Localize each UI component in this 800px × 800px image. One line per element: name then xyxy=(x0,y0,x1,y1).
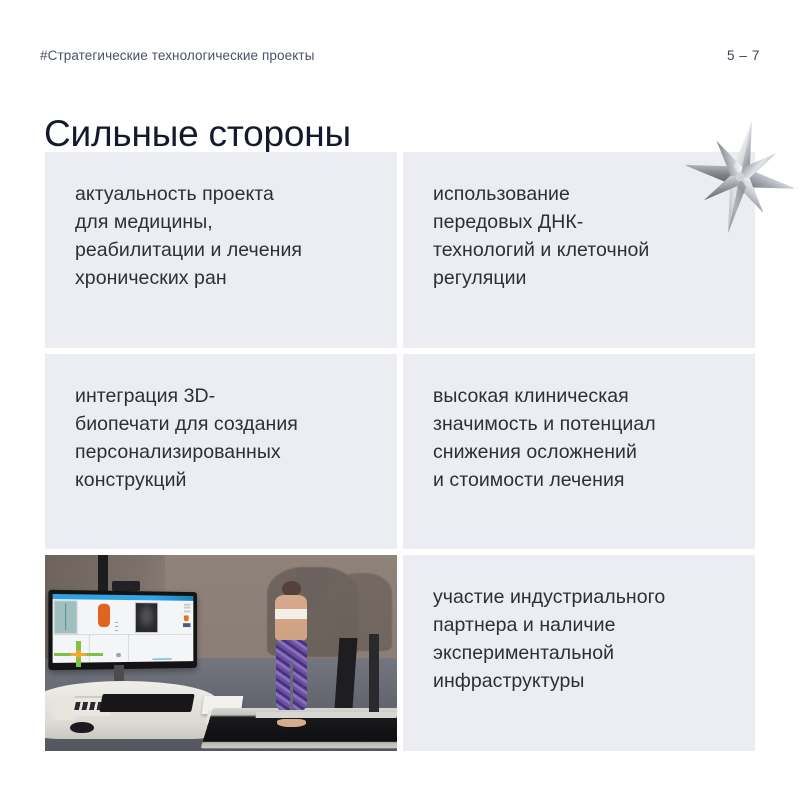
photo-screen-progress-bar xyxy=(153,658,172,660)
photo-camera xyxy=(112,581,140,591)
photo-person xyxy=(270,581,312,722)
photo-screen-marker xyxy=(115,625,119,626)
photo-person-head xyxy=(282,581,301,596)
photo-crosshair-widget xyxy=(54,641,103,666)
photo-person-top xyxy=(275,609,307,619)
page-number: 5 – 7 xyxy=(727,48,760,63)
card-text: участие индустриального партнера и налич… xyxy=(433,583,665,695)
photo-screen-pane xyxy=(54,600,78,634)
photo-screen-blue-panel xyxy=(183,623,191,626)
photo-screen-toolbar-button xyxy=(184,603,191,605)
strength-card-relevance: актуальность проекта для медицины, реаби… xyxy=(45,152,397,348)
card-text: актуальность проекта для медицины, реаби… xyxy=(75,180,302,292)
card-text: высокая клиническая значимость и потенци… xyxy=(433,382,656,494)
page-title: Сильные стороны xyxy=(44,111,351,157)
photo-crosshair-horizontal xyxy=(54,653,103,656)
slide-header: #Стратегические технологические проекты … xyxy=(40,44,760,66)
strength-card-lab-photo xyxy=(45,555,397,751)
photo-screen-divider xyxy=(54,633,192,634)
photo-screen-marker xyxy=(115,629,119,630)
photo-keyboard xyxy=(100,694,195,712)
photo-person-feet xyxy=(277,719,306,727)
photo-screen-topbar xyxy=(53,593,194,600)
photo-screen-body-model xyxy=(98,603,110,626)
photo-screen-toolbar-button xyxy=(184,606,191,608)
kicker-hashtag: #Стратегические технологические проекты xyxy=(40,48,315,63)
photo-screen-xray xyxy=(135,601,159,632)
photo-screen-marker xyxy=(115,621,119,622)
slide: #Стратегические технологические проекты … xyxy=(0,0,800,800)
lab-photo-image xyxy=(45,555,397,751)
strength-card-industrial-partner: участие индустриального партнера и налич… xyxy=(403,555,755,751)
photo-mouse xyxy=(70,722,95,734)
strength-card-dna-technologies: использование передовых ДНК- технологий … xyxy=(403,152,755,348)
photo-screen-orange-marker xyxy=(184,615,189,621)
photo-screen-divider xyxy=(128,633,129,660)
photo-screen-dot xyxy=(117,652,121,656)
strength-card-3d-bioprinting: интеграция 3D- биопечати для создания пе… xyxy=(45,354,397,550)
strengths-grid: актуальность проекта для медицины, реаби… xyxy=(45,152,755,751)
photo-panel-stand-secondary xyxy=(369,634,380,712)
strength-card-clinical-significance: высокая клиническая значимость и потенци… xyxy=(403,354,755,550)
photo-person-leggings xyxy=(276,640,307,710)
card-text: использование передовых ДНК- технологий … xyxy=(433,180,649,292)
photo-screen-toolbar-button xyxy=(184,610,191,612)
card-text: интеграция 3D- биопечати для создания пе… xyxy=(75,382,298,494)
